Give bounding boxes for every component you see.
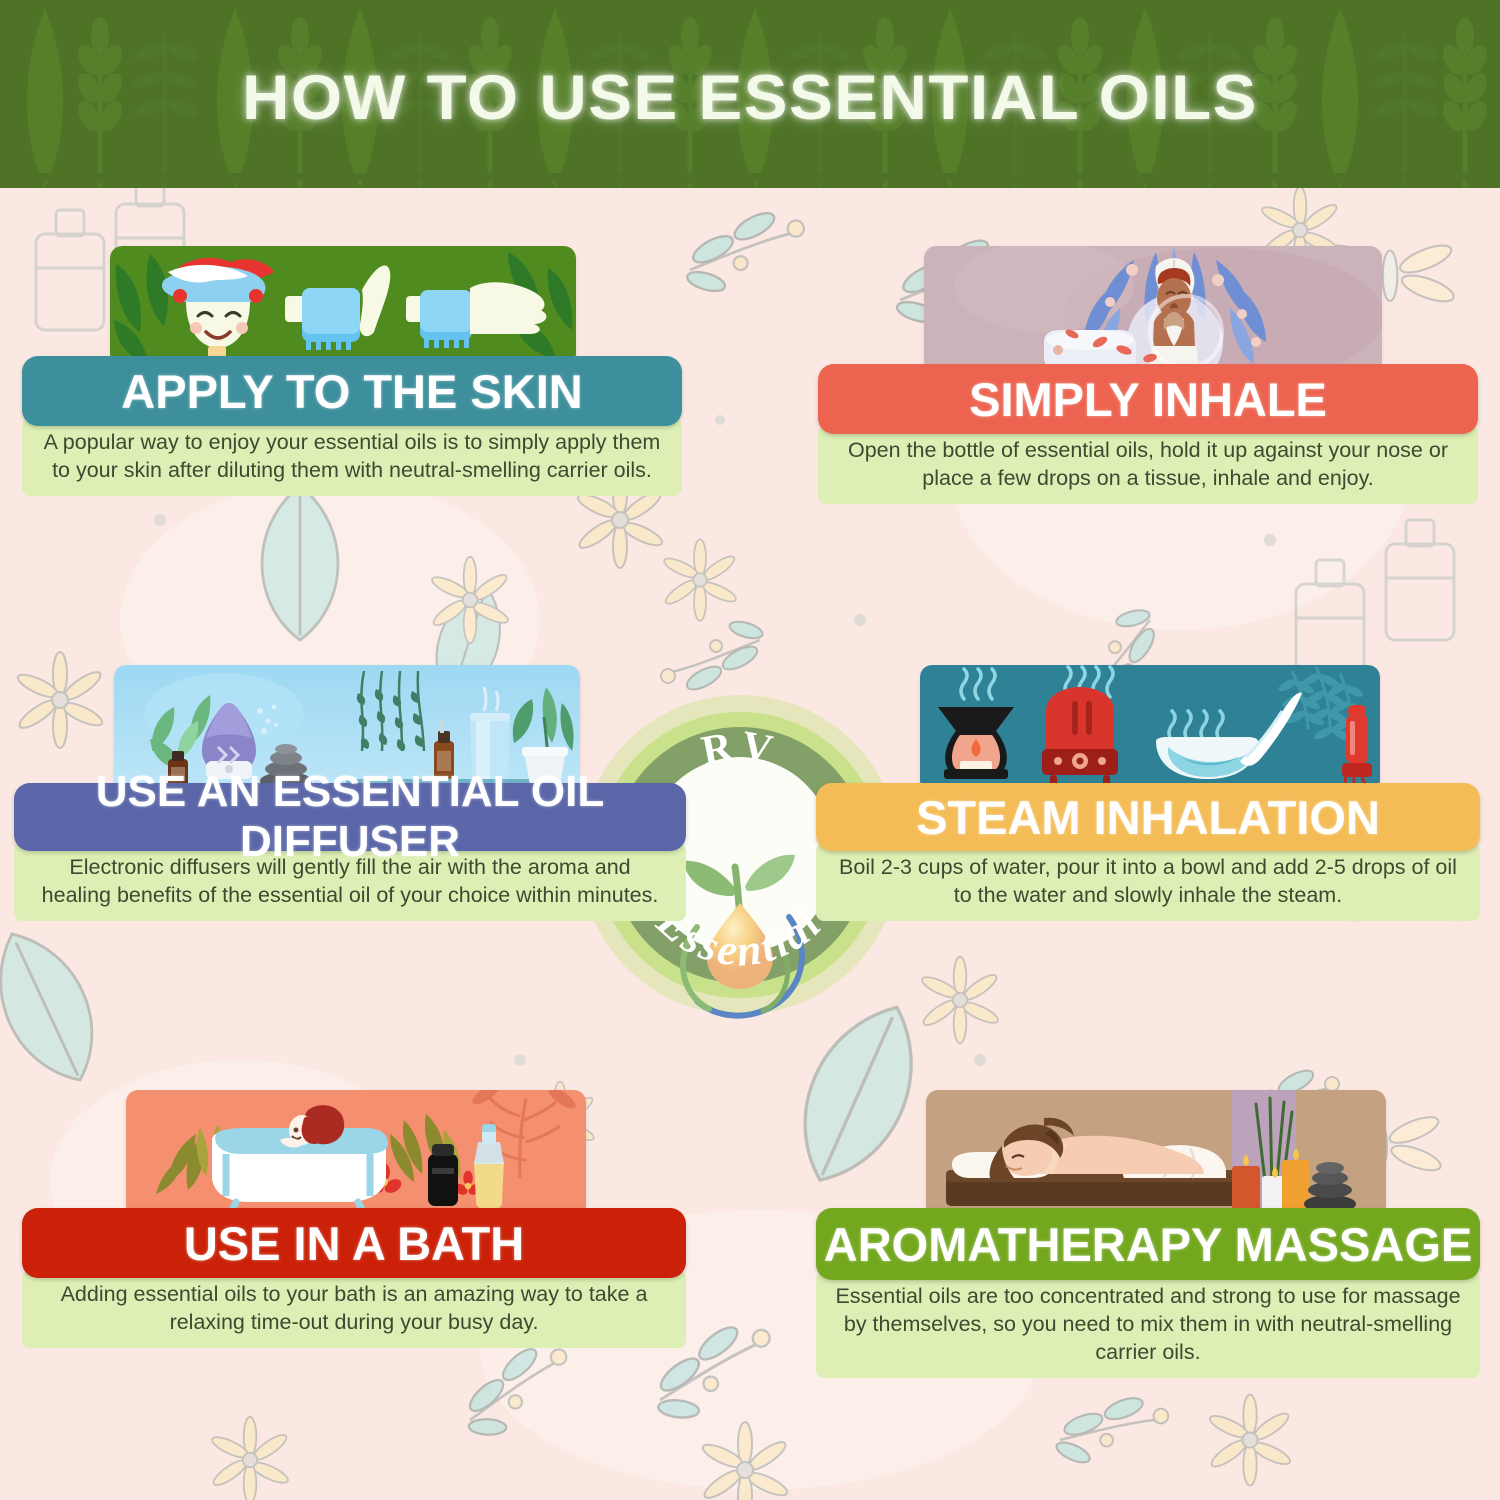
card-description-aromatherapy-massage: Essential oils are too concentrated and …	[816, 1272, 1480, 1378]
card-oil-diffuser[interactable]: USE AN ESSENTIAL OIL DIFFUSER Electronic…	[14, 665, 686, 921]
card-steam-inhalation[interactable]: STEAM INHALATION Boil 2-3 cups of water,…	[816, 665, 1480, 921]
bath-illustration	[126, 1090, 586, 1218]
card-title-apply-to-skin: APPLY TO THE SKIN	[22, 356, 682, 426]
card-title-oil-diffuser: USE AN ESSENTIAL OIL DIFFUSER	[14, 783, 686, 851]
card-apply-to-skin[interactable]: APPLY TO THE SKIN A popular way to enjoy…	[22, 246, 682, 496]
card-description-use-in-bath: Adding essential oils to your bath is an…	[22, 1270, 686, 1348]
page-title: HOW TO USE ESSENTIAL OILS	[0, 62, 1500, 134]
card-title-steam-inhalation: STEAM INHALATION	[816, 783, 1480, 851]
simply-inhale-illustration	[924, 246, 1382, 374]
card-simply-inhale[interactable]: SIMPLY INHALE Open the bottle of essenti…	[818, 246, 1478, 504]
card-description-apply-to-skin: A popular way to enjoy your essential oi…	[22, 418, 682, 496]
card-use-in-bath[interactable]: USE IN A BATH Adding essential oils to y…	[22, 1090, 686, 1348]
card-description-steam-inhalation: Boil 2-3 cups of water, pour it into a b…	[816, 843, 1480, 921]
header-banner: HOW TO USE ESSENTIAL OILS	[0, 0, 1500, 188]
header-scallop-edge	[0, 173, 1500, 188]
aromatherapy-massage-illustration	[926, 1090, 1386, 1218]
apply-to-skin-illustration	[110, 246, 576, 366]
steam-inhalation-illustration	[920, 665, 1380, 793]
card-title-use-in-bath: USE IN A BATH	[22, 1208, 686, 1278]
card-aromatherapy-massage[interactable]: AROMATHERAPY MASSAGE Essential oils are …	[816, 1090, 1480, 1378]
card-title-aromatherapy-massage: AROMATHERAPY MASSAGE	[816, 1208, 1480, 1280]
card-description-simply-inhale: Open the bottle of essential oils, hold …	[818, 426, 1478, 504]
card-title-simply-inhale: SIMPLY INHALE	[818, 364, 1478, 434]
